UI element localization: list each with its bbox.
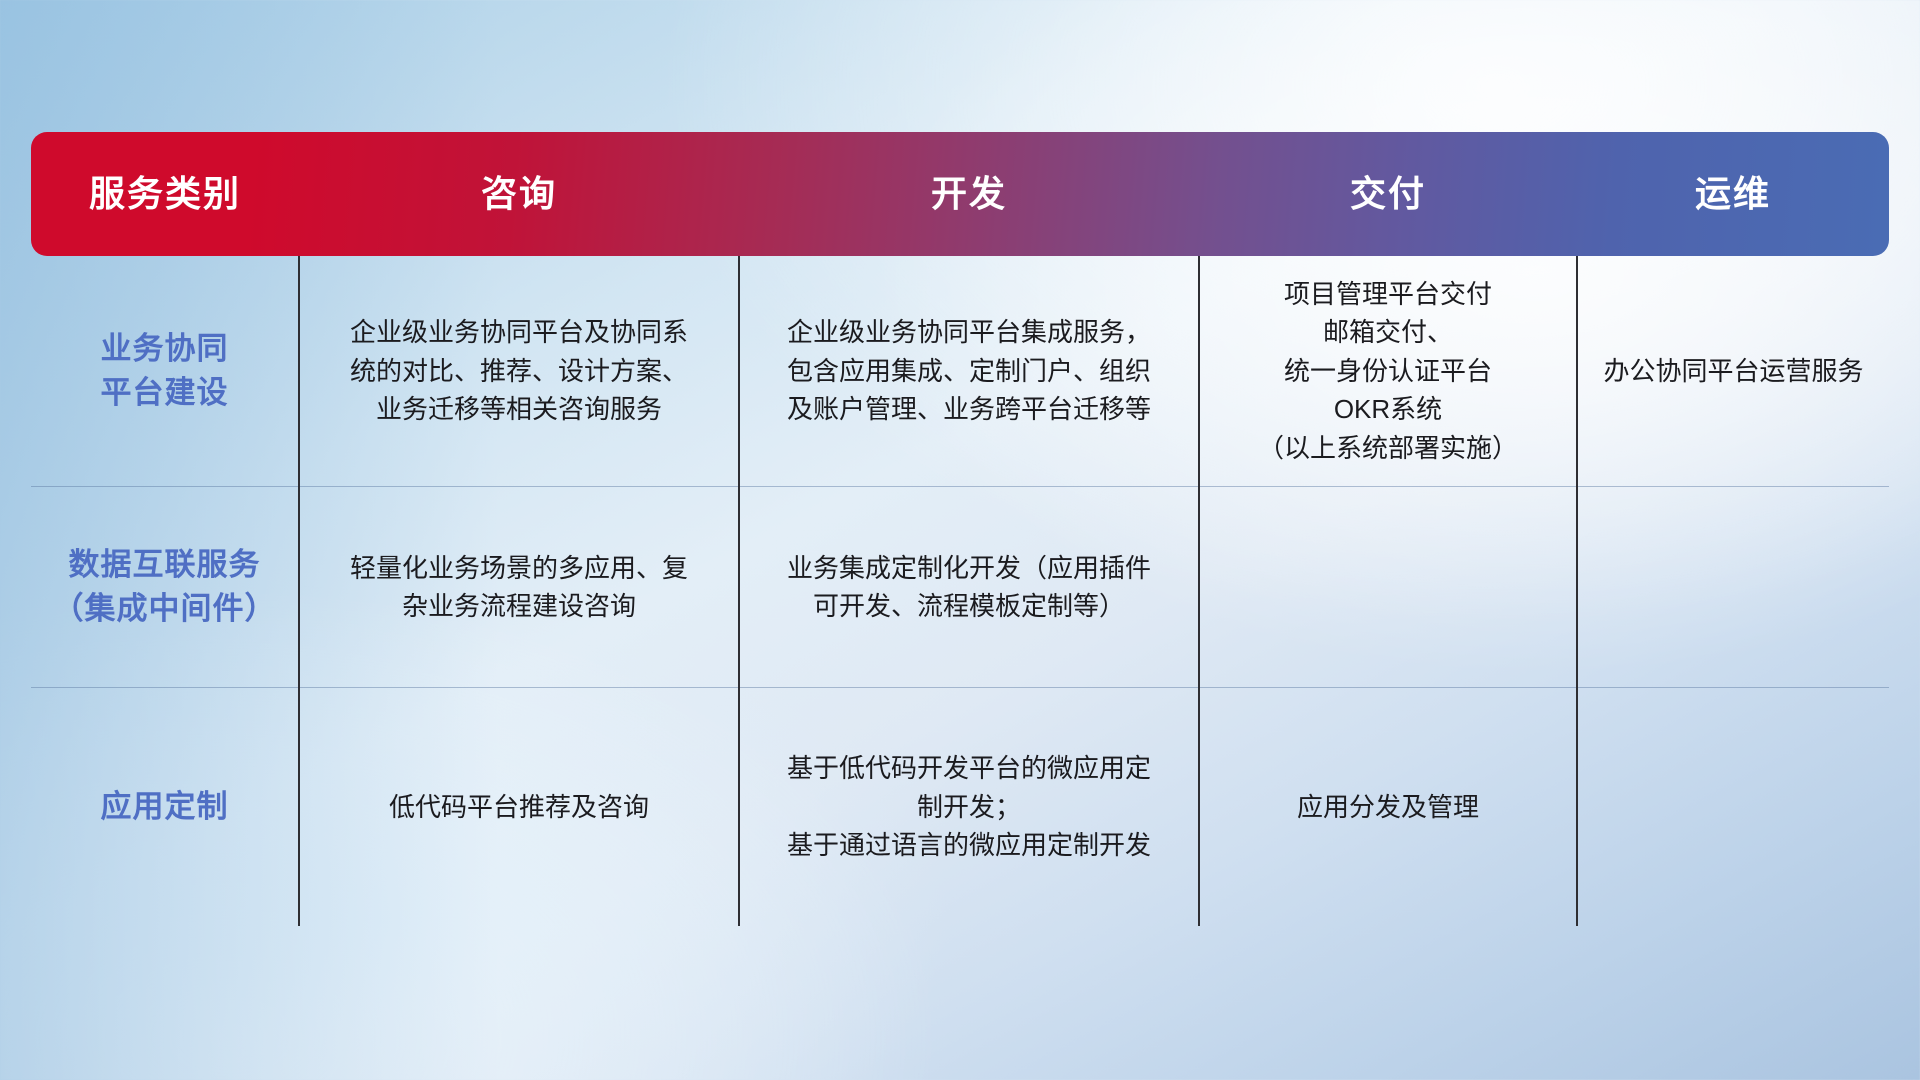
table-header: 服务类别 咨询 开发 交付 运维 xyxy=(31,132,1889,256)
cell-text: 业务集成定制化开发（应用插件 可开发、流程模板定制等） xyxy=(754,549,1184,626)
cell-text: 办公协同平台运营服务 xyxy=(1592,352,1875,390)
table-row: 业务协同 平台建设 企业级业务协同平台及协同系 统的对比、推荐、设计方案、 业务… xyxy=(31,256,1889,487)
table-row: 应用定制 低代码平台推荐及咨询 基于低代码开发平台的微应用定 制开发； 基于通过… xyxy=(31,688,1889,927)
cell-text: 企业级业务协同平台集成服务， 包含应用集成、定制门户、组织 及账户管理、业务跨平… xyxy=(754,313,1184,428)
cell-consulting-row1: 企业级业务协同平台及协同系 统的对比、推荐、设计方案、 业务迁移等相关咨询服务 xyxy=(299,256,739,487)
cell-consulting-row2: 轻量化业务场景的多应用、复 杂业务流程建设咨询 xyxy=(299,487,739,688)
service-matrix-table-wrapper: 服务类别 咨询 开发 交付 运维 xyxy=(31,132,1889,952)
header-label-service-category: 服务类别 xyxy=(31,132,299,256)
category-label: 数据互联服务 （集成中间件） xyxy=(45,543,284,631)
cell-delivery-row1: 项目管理平台交付 邮箱交付、 统一身份认证平台 OKR系统 （以上系统部署实施） xyxy=(1199,256,1577,487)
cell-consulting-row3: 低代码平台推荐及咨询 xyxy=(299,688,739,927)
cell-text: 企业级业务协同平台及协同系 统的对比、推荐、设计方案、 业务迁移等相关咨询服务 xyxy=(314,313,724,428)
cell-text: 基于低代码开发平台的微应用定 制开发； 基于通过语言的微应用定制开发 xyxy=(754,749,1184,864)
category-label: 业务协同 平台建设 xyxy=(45,327,284,415)
cell-text: 应用分发及管理 xyxy=(1214,788,1562,826)
cell-delivery-row3: 应用分发及管理 xyxy=(1199,688,1577,927)
table-header-row: 服务类别 咨询 开发 交付 运维 xyxy=(31,132,1889,256)
cell-development-row2: 业务集成定制化开发（应用插件 可开发、流程模板定制等） xyxy=(739,487,1199,688)
header-label-operations: 运维 xyxy=(1577,132,1889,256)
cell-operations-row1: 办公协同平台运营服务 xyxy=(1577,256,1889,487)
cell-text: 低代码平台推荐及咨询 xyxy=(314,788,724,826)
cell-operations-row2 xyxy=(1577,487,1889,688)
header-label-development: 开发 xyxy=(739,132,1199,256)
header-cell-delivery: 交付 xyxy=(1199,132,1577,256)
cell-development-row3: 基于低代码开发平台的微应用定 制开发； 基于通过语言的微应用定制开发 xyxy=(739,688,1199,927)
service-matrix-table: 服务类别 咨询 开发 交付 运维 xyxy=(31,132,1889,926)
table-body: 业务协同 平台建设 企业级业务协同平台及协同系 统的对比、推荐、设计方案、 业务… xyxy=(31,256,1889,926)
header-label-consulting: 咨询 xyxy=(299,132,739,256)
header-cell-consulting: 咨询 xyxy=(299,132,739,256)
cell-text: 项目管理平台交付 邮箱交付、 统一身份认证平台 OKR系统 （以上系统部署实施） xyxy=(1214,275,1562,467)
header-cell-development: 开发 xyxy=(739,132,1199,256)
cell-category-row3: 应用定制 xyxy=(31,688,299,927)
header-label-delivery: 交付 xyxy=(1199,132,1577,256)
header-cell-service-category: 服务类别 xyxy=(31,132,299,256)
cell-operations-row3 xyxy=(1577,688,1889,927)
table-row: 数据互联服务 （集成中间件） 轻量化业务场景的多应用、复 杂业务流程建设咨询 业… xyxy=(31,487,1889,688)
header-cell-operations: 运维 xyxy=(1577,132,1889,256)
slide-canvas: 服务类别 咨询 开发 交付 运维 xyxy=(0,0,1920,1080)
cell-category-row1: 业务协同 平台建设 xyxy=(31,256,299,487)
cell-text: 轻量化业务场景的多应用、复 杂业务流程建设咨询 xyxy=(314,549,724,626)
cell-development-row1: 企业级业务协同平台集成服务， 包含应用集成、定制门户、组织 及账户管理、业务跨平… xyxy=(739,256,1199,487)
cell-category-row2: 数据互联服务 （集成中间件） xyxy=(31,487,299,688)
category-label: 应用定制 xyxy=(45,785,284,829)
cell-delivery-row2 xyxy=(1199,487,1577,688)
